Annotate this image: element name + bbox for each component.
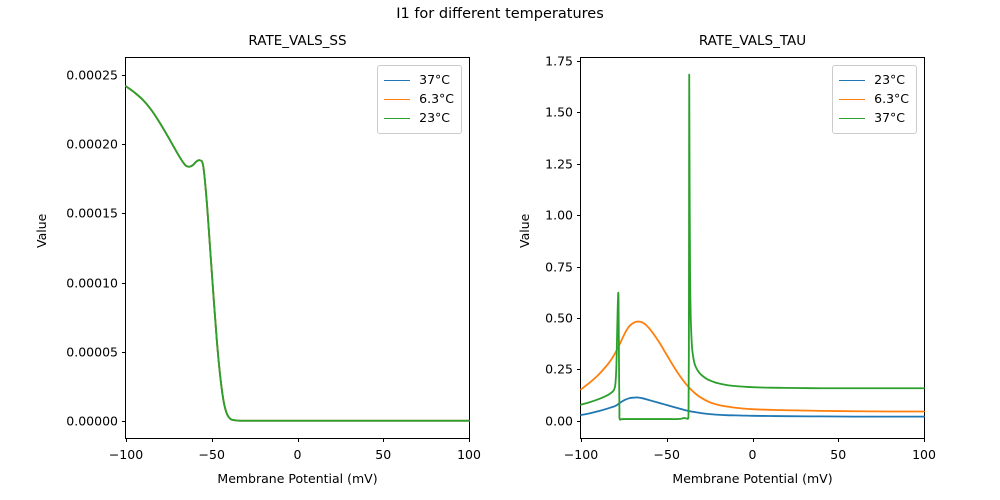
yticklabel-rate_vals_ss-4: 0.00020 (66, 137, 118, 152)
yticklabel-rate_vals_tau-5: 1.25 (545, 156, 573, 171)
yticklabel-rate_vals_ss-1: 0.00005 (66, 344, 118, 359)
legend-ss-item-2[interactable]: 23°C (384, 109, 454, 128)
yticklabel-rate_vals_tau-3: 0.75 (545, 259, 573, 274)
ytick-rate_vals_tau-6 (577, 112, 581, 113)
legend-tau-label-2: 37°C (874, 112, 905, 125)
yaxis-label-tau: Value (517, 214, 532, 248)
xtick-rate_vals_ss-1 (212, 438, 213, 442)
xticklabel-rate_vals_tau-4: 100 (912, 447, 936, 462)
xticklabel-rate_vals_tau-3: 50 (830, 447, 846, 462)
yticklabel-rate_vals_tau-7: 1.75 (545, 53, 573, 68)
xtick-rate_vals_tau-1 (667, 438, 668, 442)
legend-swatch-icon (839, 99, 865, 100)
subplot-title-tau: RATE_VALS_TAU (581, 33, 924, 49)
xaxis-label-ss: Membrane Potential (mV) (126, 471, 469, 486)
subplot-title-ss: RATE_VALS_SS (126, 33, 469, 49)
legend-tau-item-0[interactable]: 23°C (839, 71, 909, 90)
yticklabel-rate_vals_ss-5: 0.00025 (66, 68, 118, 83)
legend-tau-item-2[interactable]: 37°C (839, 109, 909, 128)
xticklabel-rate_vals_tau-2: 0 (749, 447, 757, 462)
ytick-rate_vals_tau-2 (577, 318, 581, 319)
legend-ss[interactable]: 37°C6.3°C23°C (377, 65, 462, 134)
xtick-rate_vals_tau-0 (581, 438, 582, 442)
xtick-rate_vals_ss-4 (469, 438, 470, 442)
yticklabel-rate_vals_tau-6: 1.50 (545, 105, 573, 120)
yticklabel-rate_vals_tau-2: 0.50 (545, 310, 573, 325)
legend-ss-label-0: 37°C (419, 74, 450, 87)
ytick-rate_vals_tau-4 (577, 215, 581, 216)
ytick-rate_vals_tau-5 (577, 164, 581, 165)
series-line-rate_vals_ss-0 (126, 86, 469, 420)
legend-ss-label-2: 23°C (419, 112, 450, 125)
legend-swatch-icon (839, 80, 865, 81)
ytick-rate_vals_ss-2 (122, 283, 126, 284)
series-line-rate_vals_tau-0 (581, 397, 924, 416)
legend-ss-label-1: 6.3°C (419, 93, 454, 106)
figure-canvas: I1 for different temperatures RATE_VALS_… (0, 0, 1000, 500)
yticklabel-rate_vals_tau-4: 1.00 (545, 208, 573, 223)
yaxis-label-ss: Value (34, 214, 49, 248)
subplot-rate-vals-ss: RATE_VALS_SS Membrane Potential (mV) Val… (125, 57, 470, 439)
ytick-rate_vals_ss-4 (122, 144, 126, 145)
ytick-rate_vals_tau-3 (577, 267, 581, 268)
legend-tau[interactable]: 23°C6.3°C37°C (832, 65, 917, 134)
legend-swatch-icon (839, 118, 865, 119)
ytick-rate_vals_ss-0 (122, 421, 126, 422)
xticklabel-rate_vals_tau-1: −50 (654, 447, 680, 462)
legend-ss-item-1[interactable]: 6.3°C (384, 90, 454, 109)
yticklabel-rate_vals_ss-2: 0.00010 (66, 275, 118, 290)
legend-swatch-icon (384, 99, 410, 100)
series-line-rate_vals_ss-2 (126, 86, 469, 420)
xtick-rate_vals_tau-2 (753, 438, 754, 442)
xaxis-label-tau: Membrane Potential (mV) (581, 471, 924, 486)
figure-suptitle: I1 for different temperatures (0, 6, 1000, 22)
xtick-rate_vals_ss-3 (383, 438, 384, 442)
legend-tau-item-1[interactable]: 6.3°C (839, 90, 909, 109)
ytick-rate_vals_tau-1 (577, 369, 581, 370)
xtick-rate_vals_tau-3 (838, 438, 839, 442)
ytick-rate_vals_ss-3 (122, 213, 126, 214)
ytick-rate_vals_tau-7 (577, 61, 581, 62)
legend-swatch-icon (384, 118, 410, 119)
xticklabel-rate_vals_ss-4: 100 (457, 447, 481, 462)
yticklabel-rate_vals_ss-0: 0.00000 (66, 413, 118, 428)
ytick-rate_vals_tau-0 (577, 421, 581, 422)
series-line-rate_vals_ss-1 (126, 86, 469, 420)
xtick-rate_vals_tau-4 (924, 438, 925, 442)
xtick-rate_vals_ss-2 (298, 438, 299, 442)
legend-swatch-icon (384, 80, 410, 81)
legend-ss-item-0[interactable]: 37°C (384, 71, 454, 90)
yticklabel-rate_vals_tau-1: 0.25 (545, 362, 573, 377)
xticklabel-rate_vals_ss-3: 50 (375, 447, 391, 462)
xticklabel-rate_vals_ss-0: −100 (109, 447, 143, 462)
ytick-rate_vals_ss-1 (122, 352, 126, 353)
yticklabel-rate_vals_ss-3: 0.00015 (66, 206, 118, 221)
xtick-rate_vals_ss-0 (126, 438, 127, 442)
subplot-rate-vals-tau: RATE_VALS_TAU Membrane Potential (mV) Va… (580, 57, 925, 439)
ytick-rate_vals_ss-5 (122, 75, 126, 76)
xticklabel-rate_vals_ss-2: 0 (294, 447, 302, 462)
legend-tau-label-1: 6.3°C (874, 93, 909, 106)
yticklabel-rate_vals_tau-0: 0.00 (545, 413, 573, 428)
xticklabel-rate_vals_ss-1: −50 (199, 447, 225, 462)
legend-tau-label-0: 23°C (874, 74, 905, 87)
xticklabel-rate_vals_tau-0: −100 (564, 447, 598, 462)
